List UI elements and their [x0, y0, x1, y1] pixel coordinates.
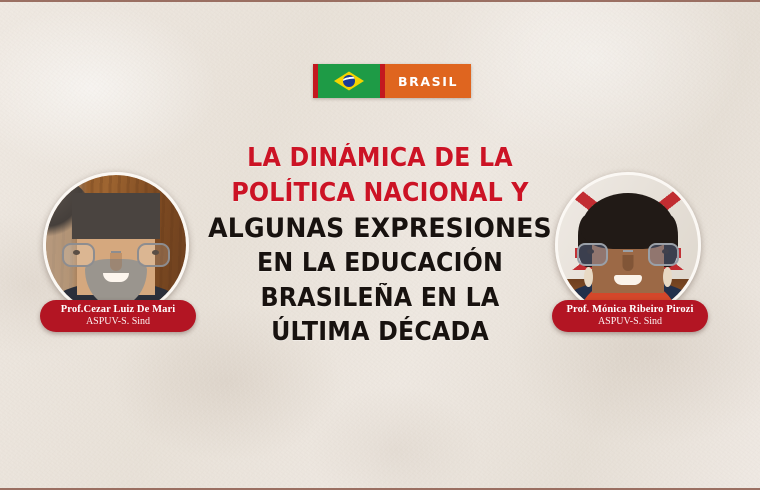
portrait-glasses-lens-left: [62, 243, 95, 267]
speaker-name-right: Prof. Mónica Ribeiro Pirozi: [556, 304, 704, 316]
speaker-photo-monica-ribeiro-pirozi: [555, 172, 701, 318]
speaker-name-left: Prof.Cezar Luiz De Mari: [44, 304, 192, 316]
brazil-flag-icon: [313, 64, 380, 98]
portrait-hair-left: [72, 193, 160, 239]
title-line-4: EN LA EDUCACIÓN: [203, 251, 556, 277]
title-line-1: LA DINÁMICA DE LA: [203, 146, 556, 172]
title-line-2: POLÍTICA NACIONAL Y: [203, 181, 556, 207]
portrait-glasses-lens-left-right: [577, 243, 608, 266]
poster-title: LA DINÁMICA DE LA POLÍTICA NACIONAL Y AL…: [190, 146, 570, 346]
poster-canvas: BRASIL LA DINÁMICA DE LA POLÍTICA NACION…: [0, 0, 760, 490]
speaker-card-right: Prof. Mónica Ribeiro Pirozi ASPUV-S. Sin…: [552, 172, 704, 332]
title-line-6: ÚLTIMA DÉCADA: [203, 320, 556, 346]
top-border-line: [0, 0, 760, 2]
brasil-badge: BRASIL: [313, 64, 471, 98]
speaker-affiliation-right: ASPUV-S. Sind: [556, 316, 704, 328]
title-line-3: ALGUNAS EXPRESIONES: [203, 215, 556, 242]
speaker-affiliation-left: ASPUV-S. Sind: [44, 316, 192, 328]
photo-clip-left: [46, 175, 186, 315]
portrait-nose-right: [623, 255, 634, 271]
badge-label: BRASIL: [385, 64, 471, 98]
speaker-photo-cezar-luiz-de-mari: [43, 172, 189, 318]
speaker-name-pill-right: Prof. Mónica Ribeiro Pirozi ASPUV-S. Sin…: [552, 300, 708, 332]
portrait-earring-left-right: [584, 267, 593, 287]
title-line-5: BRASILEÑA EN LA: [203, 286, 556, 312]
portrait-mouth-right: [614, 275, 642, 285]
speaker-card-left: Prof.Cezar Luiz De Mari ASPUV-S. Sind: [40, 172, 192, 332]
portrait-glasses-bridge-right: [623, 250, 633, 252]
portrait-glasses-bridge-left: [111, 251, 121, 253]
portrait-glasses-lens-right-right: [648, 243, 679, 266]
portrait-glasses-lens-right: [137, 243, 170, 267]
flag-globe-shape: [343, 75, 355, 87]
portrait-earring-right-right: [663, 267, 672, 287]
photo-clip-right: [558, 175, 698, 315]
portrait-nose-left: [110, 253, 122, 271]
speaker-name-pill-left: Prof.Cezar Luiz De Mari ASPUV-S. Sind: [40, 300, 196, 332]
